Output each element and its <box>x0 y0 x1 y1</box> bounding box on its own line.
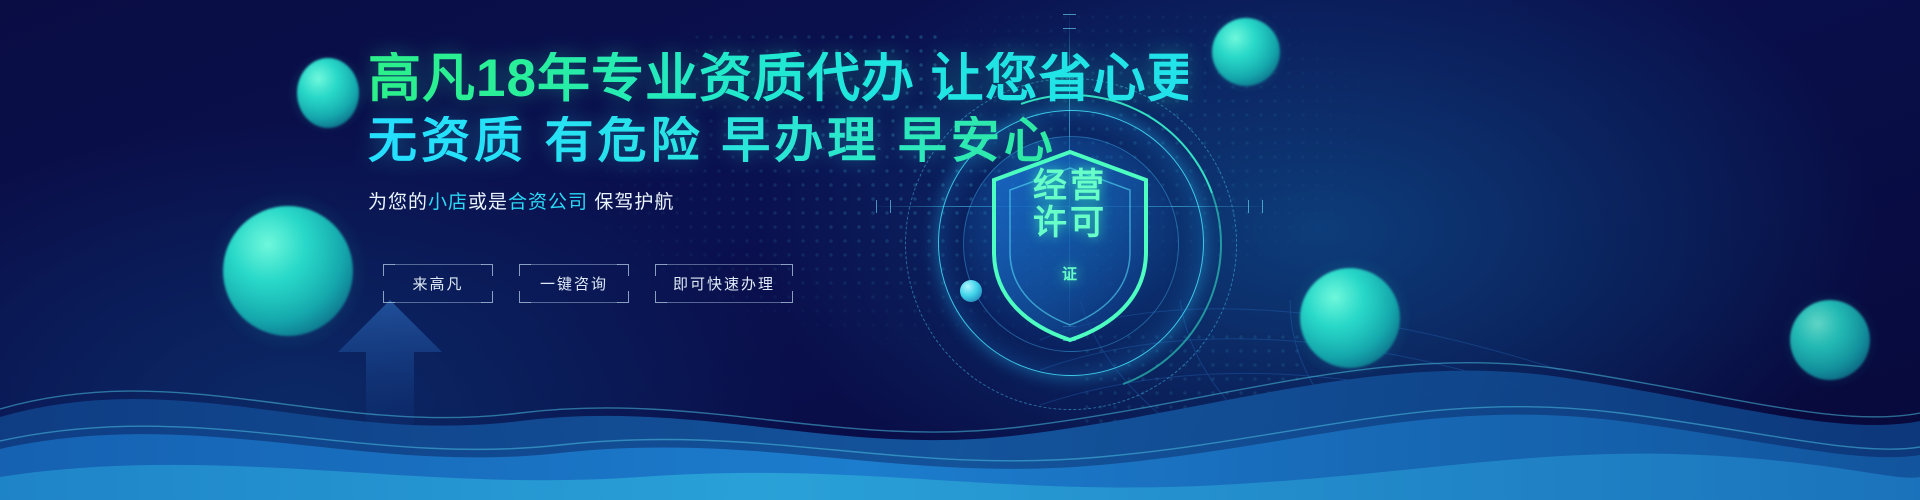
tag-label: 来高凡 <box>412 276 463 293</box>
reticle-tick <box>1063 14 1076 15</box>
tag-edge-top <box>666 264 782 265</box>
corner-mark <box>617 291 629 303</box>
tag-one-click-consult[interactable]: 一键咨询 <box>519 264 629 303</box>
tag-label: 一键咨询 <box>540 276 608 293</box>
subline-part-2: 或是 <box>468 192 508 213</box>
promo-banner: 经营 许可 证 高凡18年专业资质代办 让您省心更省力 无资质 有危险 早办理 … <box>0 0 1920 500</box>
tag-row: 来高凡 一键咨询 即可快速办理 <box>383 264 793 303</box>
tag-edge-top <box>394 264 482 265</box>
subline-highlight-1: 小店 <box>428 192 468 213</box>
reticle-tick <box>1063 28 1076 29</box>
subline-part-3: 保驾护航 <box>588 192 674 213</box>
corner-mark <box>655 264 667 276</box>
subline-highlight-2: 合资公司 <box>508 192 588 213</box>
tag-edge-top <box>530 264 618 265</box>
reticle-tick <box>1262 200 1263 213</box>
corner-mark <box>781 291 793 303</box>
subline: 为您的小店或是合资公司 保驾护航 <box>368 187 1188 214</box>
subline-part-1: 为您的 <box>368 192 428 213</box>
shield-badge-line-3: 证 <box>988 267 1152 283</box>
tag-edge-bottom <box>394 302 482 303</box>
decorative-sphere-small <box>960 280 982 302</box>
reticle-tick <box>1248 200 1249 213</box>
headline-secondary: 无资质 有危险 早办理 早安心 <box>368 116 1188 167</box>
tag-fast-processing[interactable]: 即可快速办理 <box>655 264 793 303</box>
headline-primary: 高凡18年专业资质代办 让您省心更省力 <box>368 52 1188 106</box>
corner-mark <box>481 264 493 276</box>
corner-mark <box>781 264 793 276</box>
corner-mark <box>383 264 395 276</box>
tag-edge-bottom <box>530 302 618 303</box>
tag-come-to-gaofan[interactable]: 来高凡 <box>383 264 493 303</box>
headline-block: 高凡18年专业资质代办 让您省心更省力 无资质 有危险 早办理 早安心 为您的小… <box>368 52 1188 214</box>
corner-mark <box>481 291 493 303</box>
decorative-sphere <box>297 58 359 128</box>
tag-label: 即可快速办理 <box>673 276 775 293</box>
wave-decoration <box>0 325 1920 500</box>
tag-edge-bottom <box>666 302 782 303</box>
corner-mark <box>519 264 531 276</box>
corner-mark <box>617 264 629 276</box>
